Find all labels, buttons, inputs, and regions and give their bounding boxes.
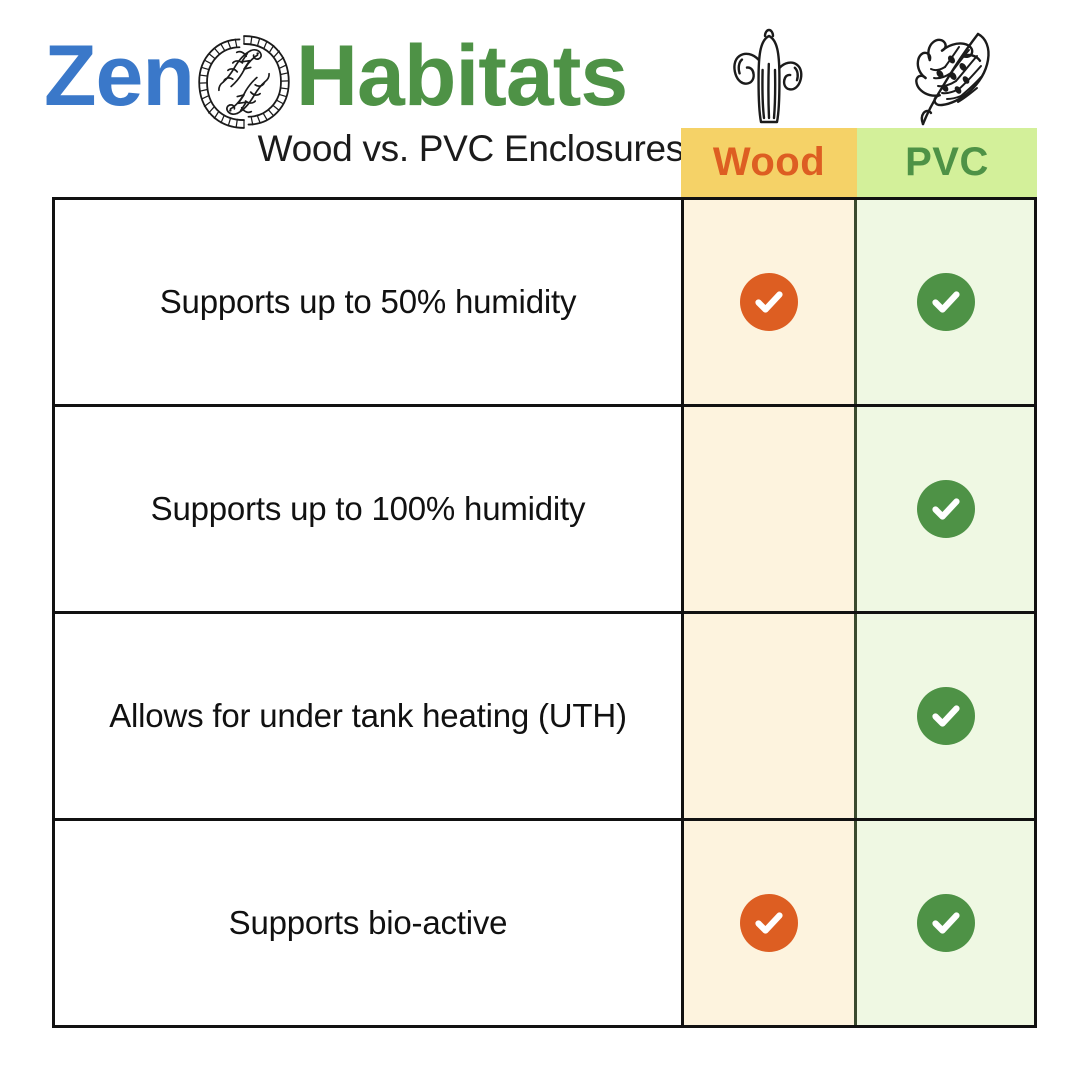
check-mark-icon: [740, 894, 798, 952]
check-mark-icon: [917, 480, 975, 538]
brand-tagline: Wood vs. PVC Enclosures: [258, 128, 684, 170]
check-mark-icon: [917, 273, 975, 331]
table-row: Supports up to 100% humidity: [55, 407, 1034, 614]
cell-pvc: [857, 614, 1034, 818]
feature-label: Supports bio-active: [55, 821, 681, 1025]
cell-wood: [681, 407, 857, 611]
two-geckos-circle-logo-icon: [188, 26, 300, 138]
cell-wood: [681, 821, 857, 1025]
brand-wordmark: Zen: [44, 22, 684, 130]
check-mark-icon: [917, 894, 975, 952]
table-row: Supports up to 50% humidity: [55, 200, 1034, 407]
table-row: Allows for under tank heating (UTH): [55, 614, 1034, 821]
brand-block: Zen: [44, 22, 684, 172]
check-mark-icon: [917, 687, 975, 745]
feature-label: Supports up to 100% humidity: [55, 407, 681, 611]
column-header-wood: Wood: [681, 128, 857, 197]
cell-wood: [681, 200, 857, 404]
column-header-pvc: PVC: [857, 128, 1037, 197]
cell-pvc: [857, 200, 1034, 404]
cactus-icon: [681, 20, 856, 126]
brand-word-habitats: Habitats: [296, 33, 627, 119]
cell-pvc: [857, 407, 1034, 611]
monstera-leaf-icon: [857, 20, 1032, 126]
check-mark-icon: [740, 273, 798, 331]
brand-word-zen: Zen: [44, 33, 194, 119]
feature-label: Allows for under tank heating (UTH): [55, 614, 681, 818]
comparison-infographic: Zen: [0, 0, 1080, 1080]
cell-pvc: [857, 821, 1034, 1025]
comparison-table: Supports up to 50% humidity Supports up …: [52, 197, 1037, 1028]
cell-wood: [681, 614, 857, 818]
feature-label: Supports up to 50% humidity: [55, 200, 681, 404]
table-row: Supports bio-active: [55, 821, 1034, 1025]
